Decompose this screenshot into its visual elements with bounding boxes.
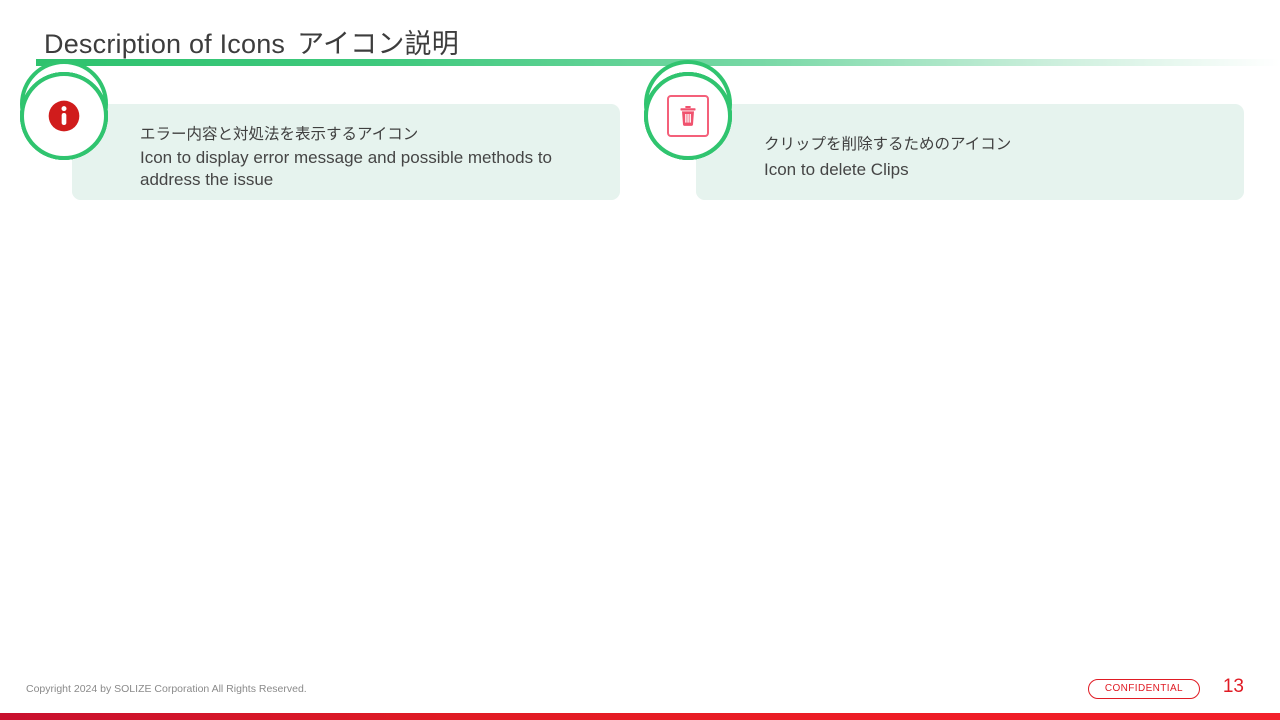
error-info-icon bbox=[44, 96, 84, 136]
right-column: ナレッジ及びその件数を示すアイコン Icon indicating Knowle… bbox=[644, 104, 1244, 116]
description-panel: エラー内容と対処法を表示するアイコン Icon to display error… bbox=[72, 116, 620, 200]
title-underline bbox=[36, 59, 1280, 66]
delete-trash-icon bbox=[667, 95, 709, 137]
description-panel: クリップを削除するためのアイコン Icon to delete Clips bbox=[696, 116, 1244, 200]
description-jp: クリップを削除するためのアイコン bbox=[764, 135, 1230, 155]
page-title-en: Description of Icons bbox=[44, 29, 285, 59]
description-jp: エラー内容と対処法を表示するアイコン bbox=[140, 125, 606, 145]
footer-accent-bar bbox=[0, 713, 1280, 720]
description-en: Icon to delete Clips bbox=[764, 159, 1230, 181]
slide-footer: Copyright 2024 by SOLIZE Corporation All… bbox=[0, 664, 1280, 720]
copyright-text: Copyright 2024 by SOLIZE Corporation All… bbox=[26, 683, 307, 695]
description-en: Icon to display error message and possib… bbox=[140, 147, 606, 191]
icon-badge bbox=[644, 72, 732, 160]
left-column: フォルダを示すアイコン Icon indicating folders プロジェ… bbox=[20, 104, 620, 116]
slide-header: Description of Iconsアイコン説明 bbox=[0, 0, 1280, 70]
page-title-jp: アイコン説明 bbox=[297, 29, 459, 59]
icon-badge bbox=[20, 72, 108, 160]
status-badge: CONFIDENTIAL bbox=[1088, 679, 1200, 699]
page-number: 13 bbox=[1223, 676, 1244, 698]
icon-legend-grid: フォルダを示すアイコン Icon indicating folders プロジェ… bbox=[0, 104, 1280, 660]
page-title: Description of Iconsアイコン説明 bbox=[44, 22, 459, 61]
